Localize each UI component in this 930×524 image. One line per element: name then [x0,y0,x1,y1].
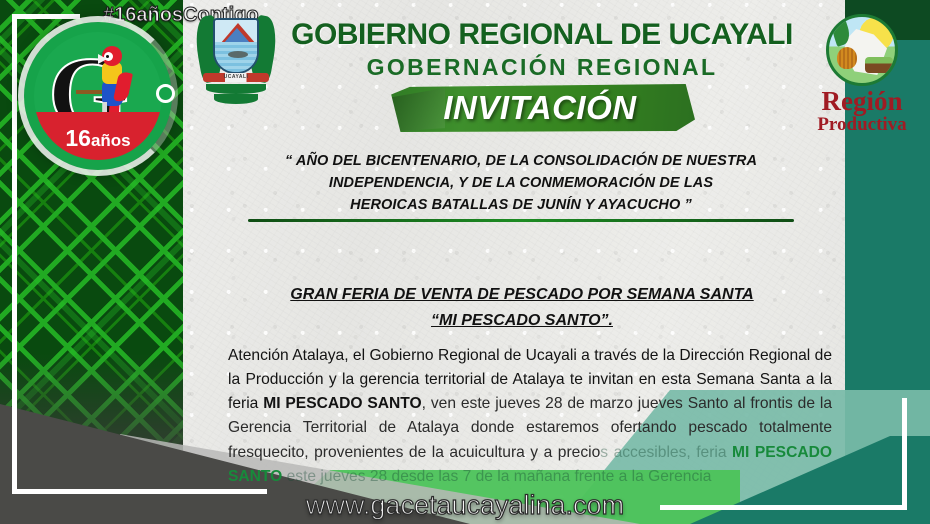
motto-line-3: HEROICAS BATALLAS DE JUNÍN Y AYACUCHO ” [222,194,820,216]
logo-years-number: 16 [65,125,91,151]
page-title: GOBIERNO REGIONAL DE UCAYALI [282,18,802,52]
body-bold-1: MI PESCADO SANTO [263,395,421,412]
logo-years-word: años [91,131,131,150]
region-globe-icon [826,14,898,86]
invitation-banner-label: INVITACIÓN [385,84,695,132]
body-part-4: este jueves 28 desde las 7 de la mañana … [282,468,711,485]
motto-line-2: INDEPENDENCIA, Y DE LA CONMEMORACIÓN DE … [222,172,820,194]
divider-rule [248,219,794,222]
event-title-line-2: “MI PESCADO SANTO”. [431,312,613,329]
anniversary-logo: G 16años [24,22,172,170]
logo-accent-dot [156,84,175,103]
invitation-banner: INVITACIÓN [385,84,695,132]
event-body-text: Atención Atalaya, el Gobierno Regional d… [228,344,832,489]
leaf-upper [206,84,266,94]
body-part-3: s accesibles, feria [600,444,732,461]
page-subtitle: GOBERNACIÓN REGIONAL [282,54,802,81]
frame-line-left [12,14,17,494]
year-motto: “ AÑO DEL BICENTENARIO, DE LA CONSOLIDAC… [222,150,820,216]
logo-years: 16años [34,125,162,152]
ucayali-coat-of-arms-icon: UCAYALI [197,10,275,106]
region-line1: Región [808,88,916,115]
event-title: GRAN FERIA DE VENTA DE PESCADO POR SEMAN… [222,282,822,334]
event-title-line-1: GRAN FERIA DE VENTA DE PESCADO POR SEMAN… [290,286,753,303]
leaf-lower [214,94,258,104]
coat-of-arms-name: UCAYALI [197,74,275,80]
motto-line-1: “ AÑO DEL BICENTENARIO, DE LA CONSOLIDAC… [222,150,820,172]
watermark-url: www.gacetaucayalina.com [0,490,930,521]
region-line2: Productiva [808,115,916,136]
invitation-poster: #16añosContigo G 16años [0,0,930,524]
logo-disc: G 16años [34,32,162,160]
shield [213,18,259,74]
region-productiva-logo: Región Productiva [808,14,916,132]
